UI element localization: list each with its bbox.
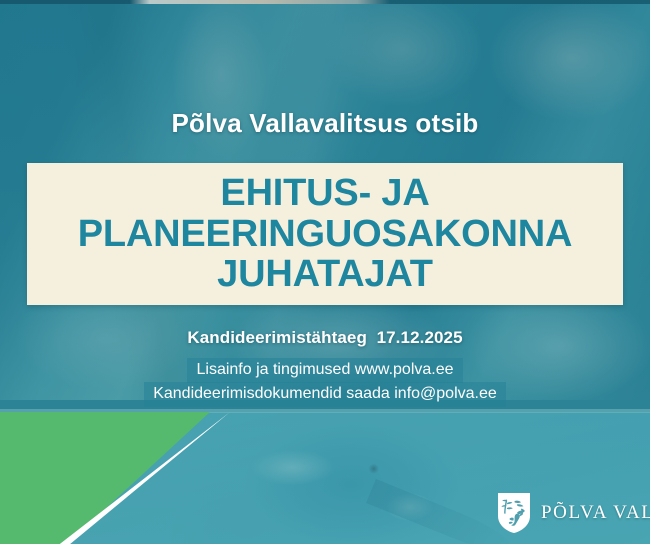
application-deadline-text: Kandideerimistähtaeg 17.12.2025 bbox=[0, 328, 650, 348]
logo-wordmark: PÕLVA VALD bbox=[541, 502, 650, 524]
contact-info-block: Lisainfo ja tingimused www.polva.ee Kand… bbox=[0, 358, 650, 407]
info-line-email: Kandideerimisdokumendid saada info@polva… bbox=[144, 382, 506, 407]
shield-coat-of-arms-icon bbox=[497, 492, 531, 534]
contact-info-row-2: Kandideerimisdokumendid saada info@polva… bbox=[0, 382, 650, 407]
employer-kicker-text: Põlva Vallavalitsus otsib bbox=[0, 108, 650, 139]
job-advert-poster: Põlva Vallavalitsus otsib EHITUS- JA PLA… bbox=[0, 0, 650, 544]
top-edge-strip bbox=[0, 0, 650, 4]
role-title-panel: EHITUS- JA PLANEERINGUOSAKONNA JUHATAJAT bbox=[27, 163, 623, 305]
contact-info-row-1: Lisainfo ja tingimused www.polva.ee bbox=[0, 358, 650, 383]
polva-vald-logo: PÕLVA VALD bbox=[497, 489, 643, 537]
info-line-website: Lisainfo ja tingimused www.polva.ee bbox=[187, 358, 462, 383]
role-title-text: EHITUS- JA PLANEERINGUOSAKONNA JUHATAJAT bbox=[27, 173, 623, 295]
